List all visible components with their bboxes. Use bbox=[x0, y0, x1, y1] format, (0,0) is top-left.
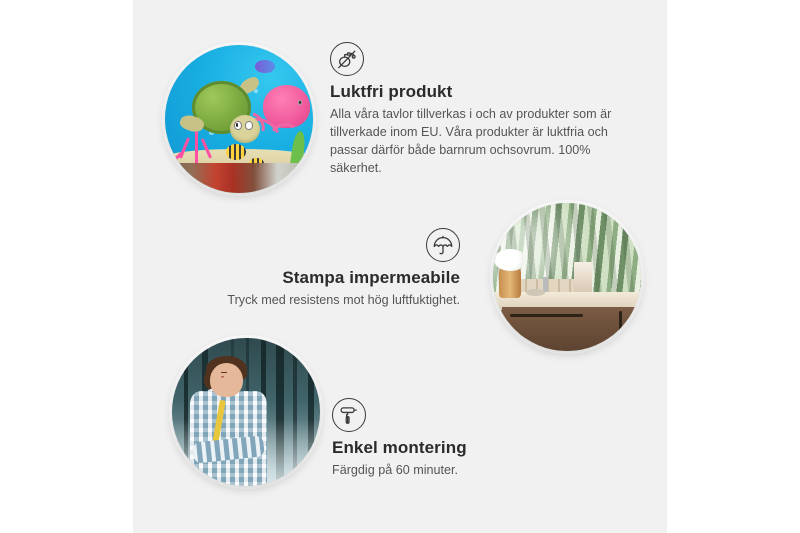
photo-bathroom bbox=[493, 203, 641, 351]
purple-fish-icon bbox=[255, 60, 274, 73]
paint-roller-icon bbox=[332, 398, 366, 432]
photo-underwater bbox=[165, 45, 313, 193]
feature-odorless: Luktfri produkt Alla våra tavlor tillver… bbox=[330, 42, 630, 178]
woman-face bbox=[210, 363, 243, 397]
feature-description: Alla våra tavlor tillverkas i och av pro… bbox=[330, 106, 630, 178]
promo-banner: Luktfri produkt Alla våra tavlor tillver… bbox=[0, 0, 800, 533]
vanity-cabinet bbox=[502, 307, 641, 351]
feature-mounting: Enkel montering Färgdig på 60 minuter. bbox=[332, 398, 602, 480]
coral-icon bbox=[177, 131, 215, 167]
feature-title: Enkel montering bbox=[332, 438, 602, 458]
underwater-illustration bbox=[165, 45, 313, 193]
photo-painter bbox=[172, 338, 320, 486]
photo-strip-overlay bbox=[165, 163, 313, 193]
feature-title: Stampa impermeabile bbox=[210, 268, 460, 288]
faucet-icon bbox=[543, 277, 547, 292]
turtle-head bbox=[230, 115, 260, 143]
bathroom-scene bbox=[493, 203, 641, 351]
feature-waterproof: Stampa impermeabile Tryck med resistens … bbox=[210, 228, 460, 310]
painter-scene bbox=[172, 338, 320, 486]
feature-description: Färgdig på 60 minuter. bbox=[332, 462, 602, 480]
umbrella-icon bbox=[426, 228, 460, 262]
no-odor-perfume-bottle-icon bbox=[330, 42, 364, 76]
feature-description: Tryck med resistens mot hög luftfuktighe… bbox=[210, 292, 460, 310]
feature-title: Luktfri produkt bbox=[330, 82, 630, 102]
candle-icon bbox=[574, 262, 592, 292]
flowers-icon bbox=[494, 249, 527, 271]
